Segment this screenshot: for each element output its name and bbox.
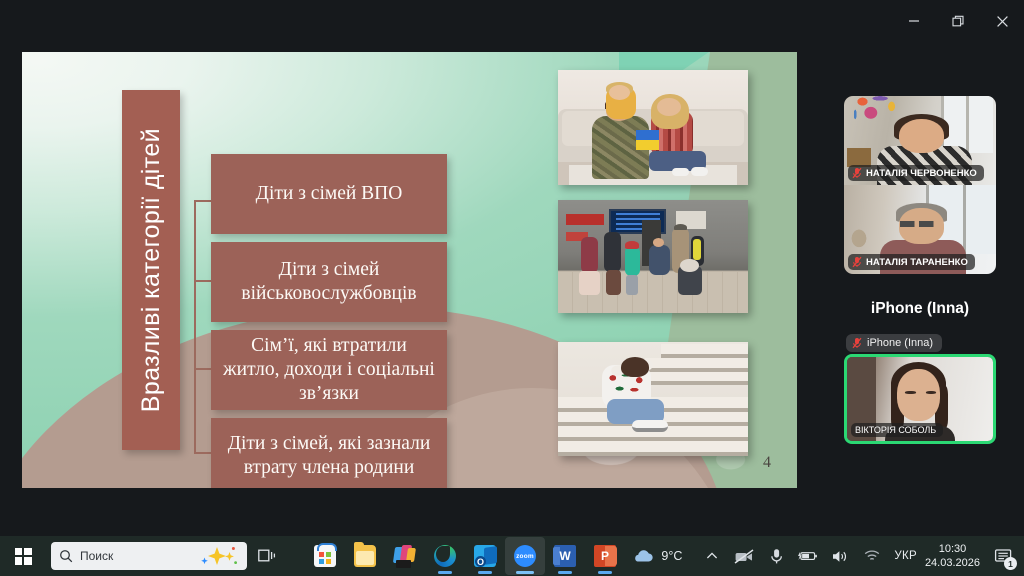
running-indicator [598,571,612,574]
taskbar-app-microsoft-365[interactable] [385,537,425,575]
active-speaker-name-badge: ВІКТОРІЯ СОБОЛЬ [851,423,943,437]
outlook-icon [474,545,496,567]
close-button[interactable] [980,5,1024,37]
word-icon: W [554,545,576,567]
notification-badge: 1 [1004,557,1017,570]
wifi-icon [863,549,881,563]
volume-button[interactable] [829,545,851,567]
participant-tile[interactable]: НАТАЛІЯ ТАРАНЕНКО [844,185,996,274]
running-indicator [558,571,572,574]
network-button[interactable] [861,545,883,567]
camera-off-button[interactable] [733,545,755,567]
zoom-icon: zoom [514,545,536,567]
running-indicator [478,571,492,574]
minimize-button[interactable] [892,5,936,37]
taskbar-app-powerpoint[interactable]: P [585,537,625,575]
windows-taskbar: Поиск [0,536,1024,576]
language-indicator[interactable]: УКР [894,550,917,562]
participant-name: НАТАЛІЯ ТАРАНЕНКО [866,257,968,268]
diagram-box: Діти з сімей, які зазнали втрату члена р… [211,418,447,488]
clock-date: 24.03.2026 [925,556,980,570]
participant-name: НАТАЛІЯ ЧЕРВОНЕНКО [866,168,977,179]
window-controls [864,0,1024,42]
taskbar-app-file-explorer[interactable] [345,537,385,575]
tray-overflow-button[interactable] [701,545,723,567]
slide-number: 4 [763,454,771,472]
diagram-box: Діти з сімей ВПО [211,154,447,234]
taskbar-app-outlook[interactable] [465,537,505,575]
powerpoint-icon: P [594,545,616,567]
participant-rail: НАТАЛІЯ ЧЕРВОНЕНКО Н [816,44,1024,536]
start-button[interactable] [0,536,46,576]
spotlight-title: iPhone (Inna) [816,300,1024,318]
taskbar-app-word[interactable]: W [545,537,585,575]
search-icon [59,549,73,563]
mic-muted-icon [852,256,862,268]
taskbar-app-list: zoom W P [305,537,625,575]
participant-thumbnail-strip: НАТАЛІЯ ЧЕРВОНЕНКО Н [844,96,996,274]
diagram-box: Діти з сімей військовослужбовців [211,242,447,322]
windows-logo-icon [15,548,32,565]
active-speaker-tile[interactable]: ВІКТОРІЯ СОБОЛЬ [844,354,996,444]
participant-name-badge: НАТАЛІЯ ЧЕРВОНЕНКО [848,165,984,181]
microphone-button[interactable] [765,545,787,567]
participant-name-badge: НАТАЛІЯ ТАРАНЕНКО [848,254,975,270]
microsoft-store-icon [314,545,336,567]
running-indicator [516,571,534,574]
task-view-button[interactable] [247,536,287,576]
spotlight-device-label: iPhone (Inna) [867,337,933,349]
desktop-screen: Вразливі категорії дітей Діти з сімей ВП… [0,0,1024,576]
clock-time: 10:30 [925,542,980,556]
microphone-icon [770,548,783,565]
file-explorer-icon [354,545,376,567]
task-view-icon [258,548,276,564]
mic-muted-icon [852,167,862,179]
microsoft-365-icon [394,545,416,567]
weather-temperature: 9°C [661,549,682,563]
word-icon-letter: W [559,549,570,563]
taskbar-app-microsoft-edge[interactable] [425,537,465,575]
taskbar-app-microsoft-store[interactable] [305,537,345,575]
speaker-icon [831,549,849,564]
powerpoint-icon-letter: P [601,549,609,563]
active-speaker-name: ВІКТОРІЯ СОБОЛЬ [855,425,936,435]
cloud-icon [631,548,655,564]
weather-widget[interactable]: 9°C [631,548,682,564]
slide-photo-child-on-stairs [558,342,748,456]
search-box[interactable]: Поиск [51,542,247,570]
running-indicator [438,571,452,574]
clock[interactable]: 10:30 24.03.2026 [925,542,980,570]
chevron-up-icon [706,551,718,561]
notifications-button[interactable]: 1 [990,543,1016,569]
microsoft-edge-icon [434,545,456,567]
spotlight-device-chip: iPhone (Inna) [846,334,942,352]
camera-off-icon [734,549,754,564]
restore-button[interactable] [936,5,980,37]
system-tray: 9°C [631,536,1024,576]
taskbar-app-zoom[interactable]: zoom [505,537,545,575]
search-placeholder: Поиск [80,549,113,563]
battery-charging-icon [797,549,819,563]
copilot-sparkle-icon[interactable] [195,545,239,567]
shared-screen-slide[interactable]: Вразливі категорії дітей Діти з сімей ВП… [22,52,797,488]
mic-muted-icon [852,337,862,349]
battery-button[interactable] [797,545,819,567]
diagram-box: Сім’ї, які втратили житло, доходи і соці… [211,330,447,410]
slide-photo-military-family [558,70,748,185]
slide-photo-displaced-people [558,200,748,313]
participant-tile[interactable]: НАТАЛІЯ ЧЕРВОНЕНКО [844,96,996,185]
